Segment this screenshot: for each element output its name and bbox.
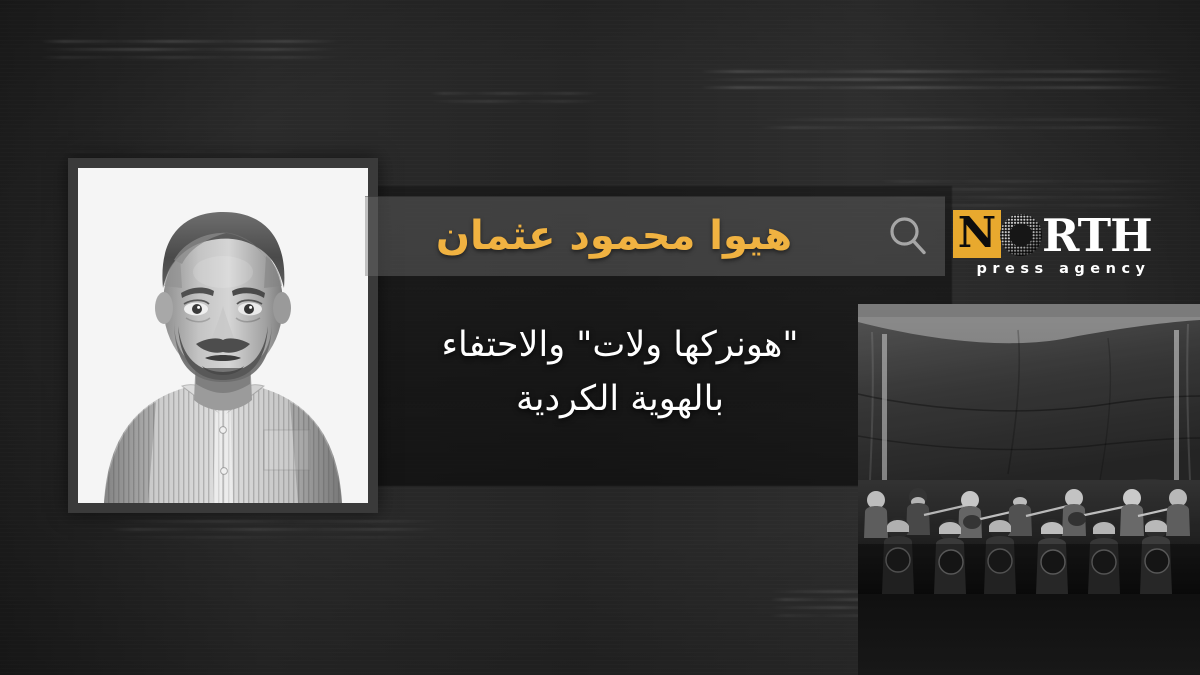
- ensemble-bottom-fade: [858, 594, 1200, 675]
- headline-line-2: بالهوية الكردية: [360, 372, 880, 426]
- portrait-photo: [78, 168, 368, 503]
- search-icon[interactable]: [871, 196, 945, 276]
- logo-globe-o-icon: [998, 212, 1044, 258]
- logo-letter-n: N: [953, 210, 1001, 258]
- author-bar: هيوا محمود عثمان: [365, 196, 945, 276]
- logo-tagline: press agency: [953, 261, 1168, 277]
- logo-letters-rth: RTH: [1042, 213, 1152, 258]
- author-name: هيوا محمود عثمان: [365, 216, 871, 256]
- north-press-agency-logo[interactable]: N: [953, 206, 1168, 282]
- headline-line-1: "هونركها ولات" والاحتفاء: [442, 325, 799, 365]
- headline: "هونركها ولات" والاحتفاء بالهوية الكردية: [360, 318, 880, 427]
- news-graphic-card: هيوا محمود عثمان "هونركها ولات" والاحتفا…: [0, 0, 1200, 675]
- portrait-frame: [68, 158, 378, 513]
- ensemble-photo: [858, 304, 1200, 594]
